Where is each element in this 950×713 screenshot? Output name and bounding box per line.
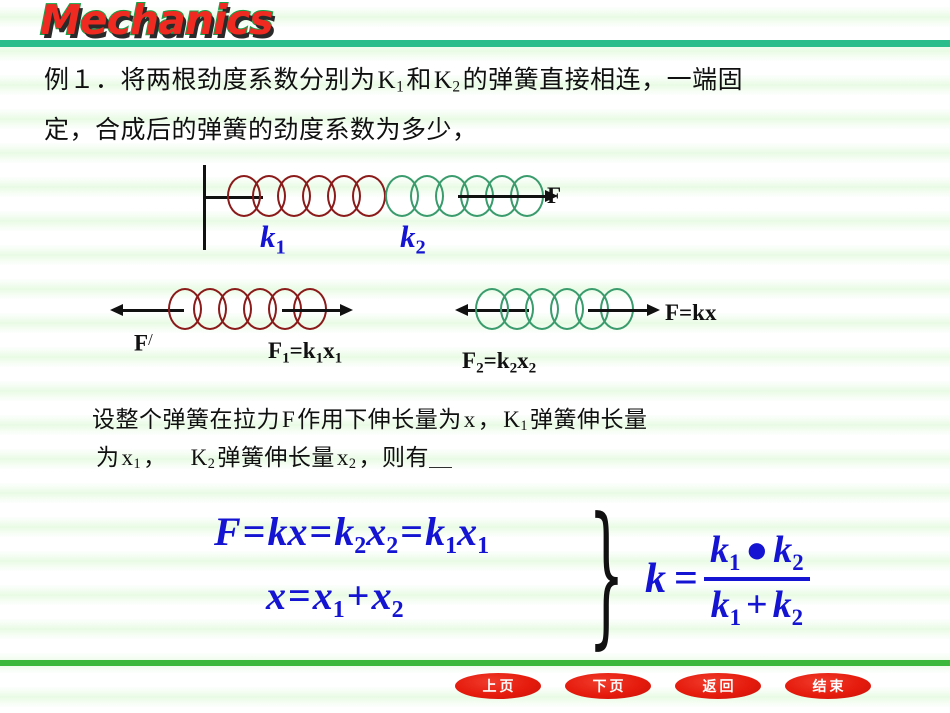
spring-constant-k2-label: k2 [400,219,426,260]
fraction-denominator: k1+k2 [705,583,809,631]
fraction-stack: k1●k2 k1+k2 [704,528,810,631]
title-bar: Mechanics [0,0,950,46]
explanation-F: F [280,407,297,432]
problem-line-1: 例１．将两根劲度系数分别为K1和K2的弹簧直接相连，一端固 [44,60,743,96]
grouping-brace: } [588,497,625,651]
navigation-buttons: 上页 下页 返回 结束 [455,673,895,703]
spring-constant-k1-label: k1 [260,219,286,260]
explanation-x1: x1 [120,445,144,470]
equation-force-balance: F=kx=k2x2=k1x1 [214,508,489,560]
separated-spring-diagram: F/ F1=k1x1 F=kx F2=k2x2 [110,286,870,386]
force-label-F-prime: F/ [134,330,153,357]
problem-line-1-part-a: 例１．将两根劲度系数分别为 [44,65,376,94]
coil [352,175,386,217]
f-kx-arrow-head [647,304,660,316]
prev-page-button[interactable]: 上页 [455,673,541,699]
result-equals-sign: = [666,555,704,603]
result-k-symbol: k [645,555,666,603]
series-spring-diagram: F k1 k2 [195,163,615,278]
explanation-K2: K2 [189,445,218,470]
explanation-line-1: 设整个弹簧在拉力F作用下伸长量为x，K1弹簧伸长量 [92,400,648,435]
wall-line [203,165,206,250]
force-label-F1: F1=k1x1 [268,338,342,368]
explanation-x2: x2 [335,445,359,470]
explanation-line-2: 为x1，K2弹簧伸长量x2，则有＿ [96,438,453,473]
force-label-F: F [547,183,561,209]
problem-line-1-part-b: 和 [406,65,432,94]
problem-line-1-part-c: 的弹簧直接相连，一端固 [463,65,744,94]
explanation-K1: K1 [501,407,530,432]
fraction-numerator: k1●k2 [704,528,810,576]
explanation-x: x [462,407,478,432]
title-divider [0,40,950,47]
force-label-F2: F2=k2x2 [462,348,536,378]
end-button[interactable]: 结束 [785,673,871,699]
footer-divider [0,660,950,666]
force-arrow-shaft [458,195,548,198]
f1-arrow-head [340,304,353,316]
next-page-button[interactable]: 下页 [565,673,651,699]
problem-k2: K2 [432,67,463,94]
back-button[interactable]: 返回 [675,673,761,699]
f-kx-arrow-shaft [588,309,650,312]
force-label-F-equals-kx: F=kx [665,300,716,326]
equation-displacement-sum: x=x1+x2 [266,572,404,624]
problem-k1: K1 [376,67,407,94]
slide-canvas: Mechanics 例１．将两根劲度系数分别为K1和K2的弹簧直接相连，一端固 … [0,0,950,713]
problem-line-2: 定，合成后的弹簧的劲度系数为多少， [44,110,478,146]
spring-k1 [227,175,407,217]
fraction-bar [704,577,810,581]
equation-effective-constant: k = k1●k2 k1+k2 [645,528,810,631]
page-title: Mechanics [40,0,273,44]
f1-arrow-shaft [282,309,344,312]
